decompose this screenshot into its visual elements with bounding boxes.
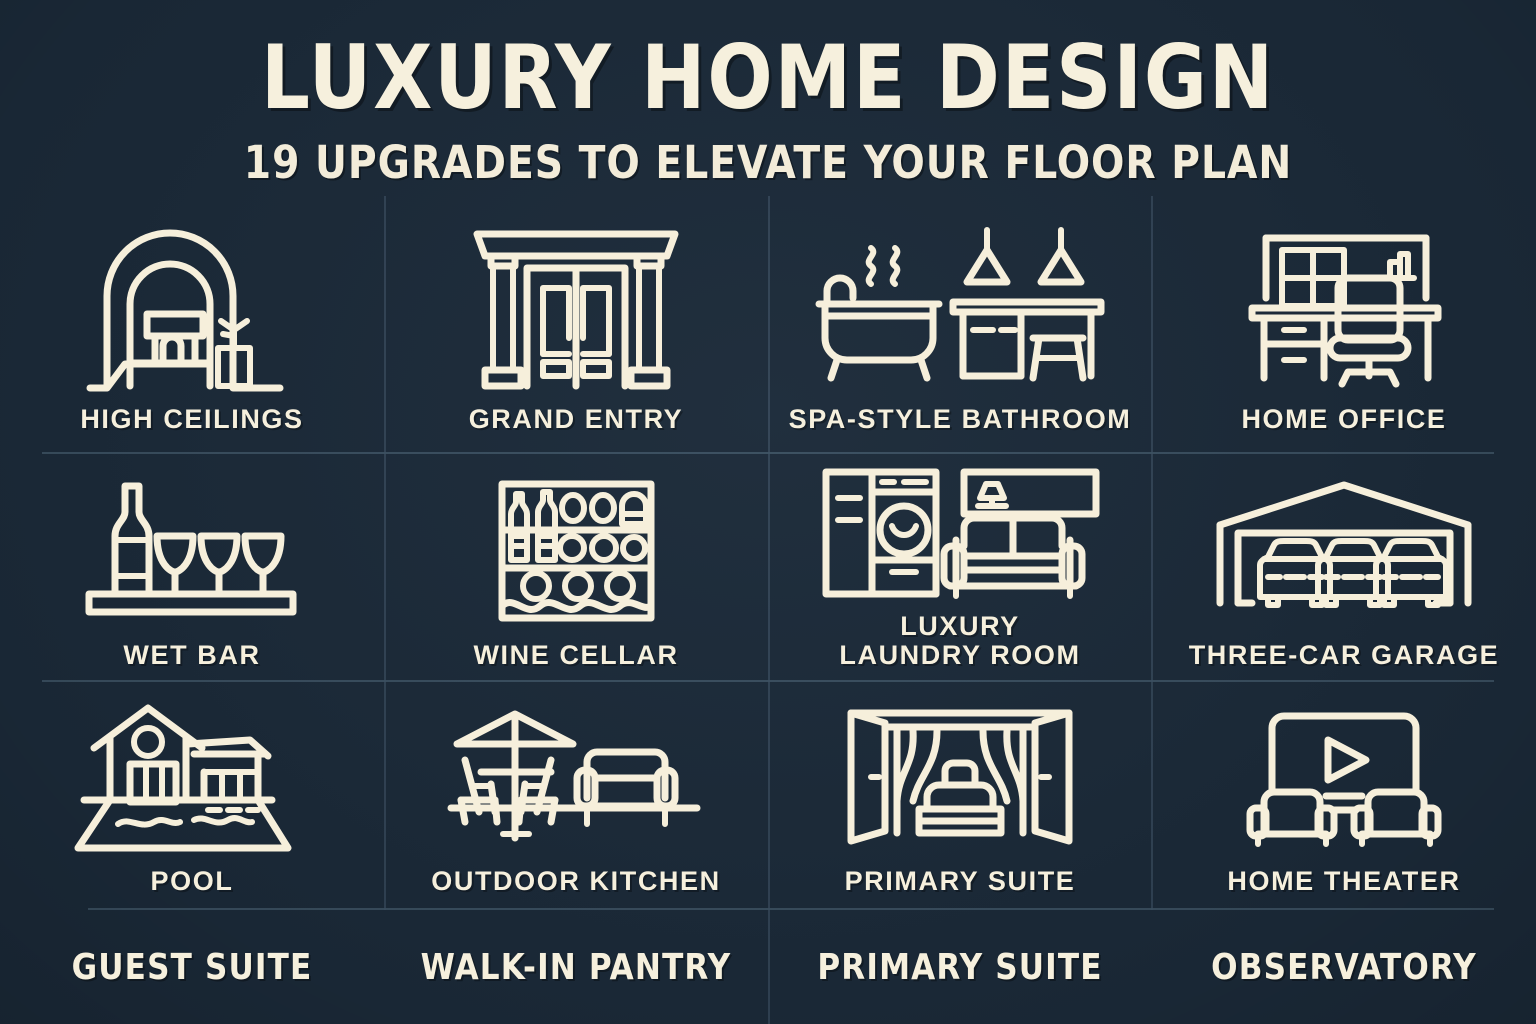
page-title: LUXURY HOME DESIGN [23,34,1513,122]
double-doors-canopy-bed-icon [768,692,1152,867]
grid-cell-three-car-garage[interactable]: THREE-CAR GARAGE [1152,452,1536,684]
bottom-item-observatory[interactable]: OBSERVATORY [1160,947,1529,988]
portico-double-door-icon [384,213,768,405]
arched-room-fireplace-icon [0,213,384,405]
clawfoot-tub-vanity-icon [768,213,1152,405]
desk-chair-window-icon [1152,213,1536,405]
bottom-item-primary-suite[interactable]: PRIMARY SUITE [776,947,1145,988]
header: LUXURY HOME DESIGN 19 UPGRADES TO ELEVAT… [0,0,1536,185]
cell-label: WET BAR [117,641,266,670]
garage-three-cars-icon [1152,460,1536,641]
grid-cell-outdoor-kitchen[interactable]: OUTDOOR KITCHEN [384,684,768,910]
cell-label: HIGH CEILINGS [74,405,309,434]
grid-cell-wine-cellar[interactable]: WINE CELLAR [384,452,768,684]
cell-label: HOME OFFICE [1235,405,1452,434]
cell-label: OUTDOOR KITCHEN [425,867,727,896]
cell-label: WINE CELLAR [467,641,684,670]
upgrades-grid: HIGH CEILINGS GRAND ENTRY [0,205,1536,910]
wine-rack-icon [384,460,768,641]
grid-cell-high-ceilings[interactable]: HIGH CEILINGS [0,205,384,452]
patio-umbrella-seating-icon [384,692,768,867]
bottom-label-row: GUEST SUITE WALK-IN PANTRY PRIMARY SUITE… [0,910,1536,1024]
cell-label: POOL [145,867,240,896]
cell-label: GRAND ENTRY [463,405,690,434]
grid-cell-pool[interactable]: POOL [0,684,384,910]
grid-cell-home-office[interactable]: HOME OFFICE [1152,205,1536,452]
cell-label: SPA-STYLE BATHROOM [783,405,1138,434]
grid-cell-luxury-laundry-room[interactable]: LUXURY LAUNDRY ROOM [768,452,1152,684]
grid-cell-grand-entry[interactable]: GRAND ENTRY [384,205,768,452]
cell-label: LUXURY LAUNDRY ROOM [833,612,1086,670]
grid-cell-spa-style-bathroom[interactable]: SPA-STYLE BATHROOM [768,205,1152,452]
cell-label: HOME THEATER [1221,867,1466,896]
page-subtitle: 19 UPGRADES TO ELEVATE YOUR FLOOR PLAN [23,140,1513,185]
house-pool-icon [0,692,384,867]
bottom-item-guest-suite[interactable]: GUEST SUITE [8,947,377,988]
cell-label: THREE-CAR GARAGE [1183,641,1506,670]
grid-cell-wet-bar[interactable]: WET BAR [0,452,384,684]
grid-cell-primary-suite[interactable]: PRIMARY SUITE [768,684,1152,910]
screen-recliners-icon [1152,692,1536,867]
bottle-wine-glasses-icon [0,460,384,641]
washer-sofa-icon [768,460,1152,612]
cell-label: PRIMARY SUITE [839,867,1082,896]
bottom-item-walk-in-pantry[interactable]: WALK-IN PANTRY [392,947,761,988]
grid-cell-home-theater[interactable]: HOME THEATER [1152,684,1536,910]
